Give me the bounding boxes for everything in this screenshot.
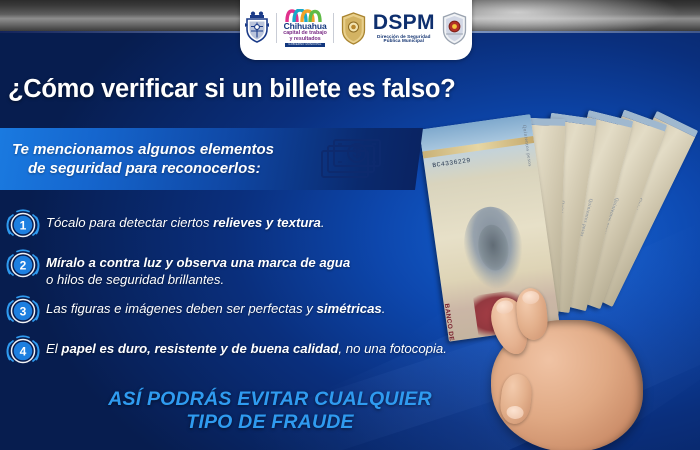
list-item: 1 Tócalo para detectar ciertos relieves … [0,206,560,242]
logo-panel: Chihuahua capital de trabajo y resultado… [240,0,472,60]
tip-number: 4 [20,345,27,359]
tip-text-part-bold: papel es duro, resistente y de buena cal… [61,341,338,356]
subtitle-text: Te mencionamos algunos elementos de segu… [12,140,312,178]
numbered-badge-pulse-icon: 4 [0,332,46,368]
tips-list: 1 Tócalo para detectar ciertos relieves … [0,206,560,372]
tip-text: Tócalo para detectar ciertos relieves y … [46,206,325,231]
footer-slogan: ASÍ PODRÁS EVITAR CUALQUIER TIPO DE FRAU… [60,388,480,435]
subtitle-line1: Te mencionamos algunos elementos [12,141,274,158]
chihuahua-rainbow-arch-icon [285,9,325,22]
chihuahua-tagline-line2: y resultados [289,37,320,42]
numbered-badge-pulse-icon: 1 [0,206,46,242]
tip-number: 1 [20,219,27,233]
dspm-acronym: DSPM [373,12,435,33]
list-item: 2 Míralo a contra luz y observa una marc… [0,246,560,288]
banknote-serial-number: BC4336229 [432,157,471,169]
tip-text-part: o hilos de seguridad brillantes. [46,271,350,288]
list-item: 4 El papel es duro, resistente y de buen… [0,332,560,368]
logo-divider [333,13,334,43]
tip-text: Las figuras e imágenes deben ser perfect… [46,292,385,317]
numbered-badge-pulse-icon: 3 [0,292,46,328]
list-item: 3 Las figuras e imágenes deben ser perfe… [0,292,560,328]
logo-divider [276,13,277,43]
tip-number: 2 [20,259,27,273]
dspm-subtitle-line2: Pública Municipal [384,39,425,44]
tip-text-part: . [382,301,386,316]
tip-text: El papel es duro, resistente y de buena … [46,332,447,357]
subtitle-banner: Te mencionamos algunos elementos de segu… [0,128,423,190]
chihuahua-gov-bar: GOBIERNO MUNICIPAL [285,43,325,47]
footer-line2: TIPO DE FRAUDE [60,411,480,434]
tip-text-part-bold: simétricas [317,301,382,316]
subtitle-line2: de seguridad para reconocerlos: [28,159,312,178]
banknote-stack-dollar-icon [320,133,386,185]
page-title: ¿Cómo verificar si un billete es falso? [8,75,508,104]
tip-text-part: . [321,215,325,230]
tip-text-part: , no una fotocopia. [338,341,447,356]
chihuahua-brand-logo: Chihuahua capital de trabajo y resultado… [283,9,327,47]
numbered-badge-pulse-icon: 2 [0,246,46,282]
dspm-wordmark: DSPM Dirección de Seguridad Pública Muni… [373,12,435,44]
dspm-badge-right [441,12,468,45]
tip-text-part: El [46,341,61,356]
tip-text-part: Las figuras e imágenes deben ser perfect… [46,301,317,316]
infographic-poster: Quinientos pesos Quinientos pesos Quinie… [0,0,700,450]
police-badge-gold-icon [340,12,367,45]
tip-text-part: Tócalo para detectar ciertos [46,215,213,230]
tip-text-part-bold: relieves y textura [213,215,321,230]
chihuahua-municipal-coat-of-arms-icon [244,11,270,45]
fingernail [506,405,524,420]
police-shield-emblem-icon [441,12,468,45]
tip-text: Míralo a contra luz y observa una marca … [46,246,350,288]
municipal-shield-logo [244,11,270,45]
footer-line1: ASÍ PODRÁS EVITAR CUALQUIER [108,388,432,410]
tip-number: 3 [20,305,27,319]
tip-text-part-bold: Míralo a contra luz y observa una marca … [46,255,350,270]
dspm-badge-left [340,12,367,45]
